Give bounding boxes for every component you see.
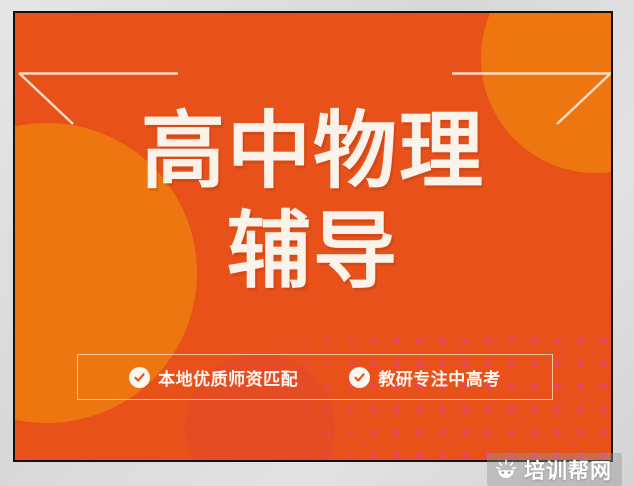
headline-line-2: 辅导 [15, 209, 611, 293]
feature-label-2: 教研专注中高考 [378, 365, 501, 390]
sun-face-icon [495, 459, 517, 481]
feature-item-1: 本地优质师资匹配 [129, 365, 298, 390]
poster-canvas: 高中物理 辅导 本地优质师资匹配 教研专注中高考 [15, 13, 611, 460]
feature-item-2: 教研专注中高考 [349, 365, 501, 390]
feature-badge-bar: 本地优质师资匹配 教研专注中高考 [77, 354, 553, 400]
course-poster: 高中物理 辅导 本地优质师资匹配 教研专注中高考 [13, 11, 613, 462]
poster-headline: 高中物理 辅导 [15, 109, 611, 293]
check-circle-icon [349, 367, 370, 388]
check-circle-icon [129, 367, 150, 388]
headline-line-1: 高中物理 [15, 109, 611, 193]
feature-label-1: 本地优质师资匹配 [158, 365, 298, 390]
site-watermark: 培训帮网 [487, 453, 622, 486]
watermark-text: 培训帮网 [524, 455, 612, 485]
